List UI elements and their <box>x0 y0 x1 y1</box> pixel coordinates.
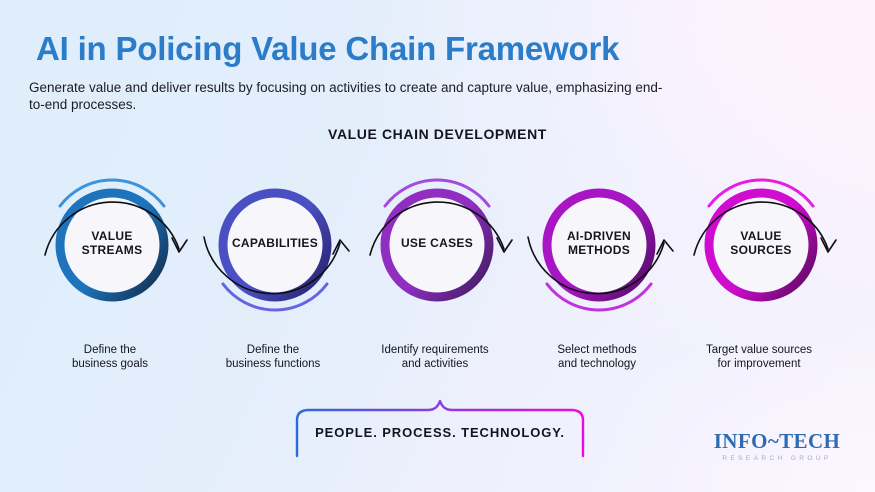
infographic-canvas: AI in Policing Value Chain Framework Gen… <box>0 0 875 492</box>
page-subtitle: Generate value and deliver results by fo… <box>29 79 669 113</box>
flow-arrow-head <box>333 240 349 254</box>
node-caption-row: Define thebusiness goalsDefine thebusine… <box>0 344 875 384</box>
value-chain-node[interactable]: VALUESTREAMS <box>31 163 193 323</box>
page-title: AI in Policing Value Chain Framework <box>36 30 619 68</box>
node-caption: Define thebusiness functions <box>183 344 363 371</box>
flow-arrow-head <box>172 238 187 252</box>
flow-arrow-head <box>821 238 836 252</box>
node-caption: Select methodsand technology <box>507 344 687 371</box>
node-ring-graphic <box>518 163 680 323</box>
flow-arrow-head <box>657 240 673 254</box>
node-ring-graphic <box>680 163 842 323</box>
node-ring-graphic <box>194 163 356 323</box>
value-chain-node-row: VALUESTREAMSCAPABILITIESUSE CASESAI-DRIV… <box>0 163 875 323</box>
node-caption: Identify requirementsand activities <box>345 344 525 371</box>
pillars-text: PEOPLE. PROCESS. TECHNOLOGY. <box>285 425 595 440</box>
node-caption: Define thebusiness goals <box>20 344 200 371</box>
section-heading: VALUE CHAIN DEVELOPMENT <box>0 126 875 142</box>
node-ring-graphic <box>31 163 193 323</box>
node-ring-graphic <box>356 163 518 323</box>
pillars-brace-banner: PEOPLE. PROCESS. TECHNOLOGY. <box>285 398 595 458</box>
value-chain-node[interactable]: AI-DRIVENMETHODS <box>518 163 680 323</box>
node-caption: Target value sourcesfor improvement <box>669 344 849 371</box>
value-chain-node[interactable]: USE CASES <box>356 163 518 323</box>
flow-arrow-head <box>497 238 512 252</box>
company-logo: INFO~TECH RESEARCH GROUP <box>697 430 857 462</box>
logo-wordmark: INFO~TECH <box>697 430 857 452</box>
value-chain-node[interactable]: CAPABILITIES <box>194 163 356 323</box>
value-chain-node[interactable]: VALUESOURCES <box>680 163 842 323</box>
logo-tagline: RESEARCH GROUP <box>697 455 857 462</box>
